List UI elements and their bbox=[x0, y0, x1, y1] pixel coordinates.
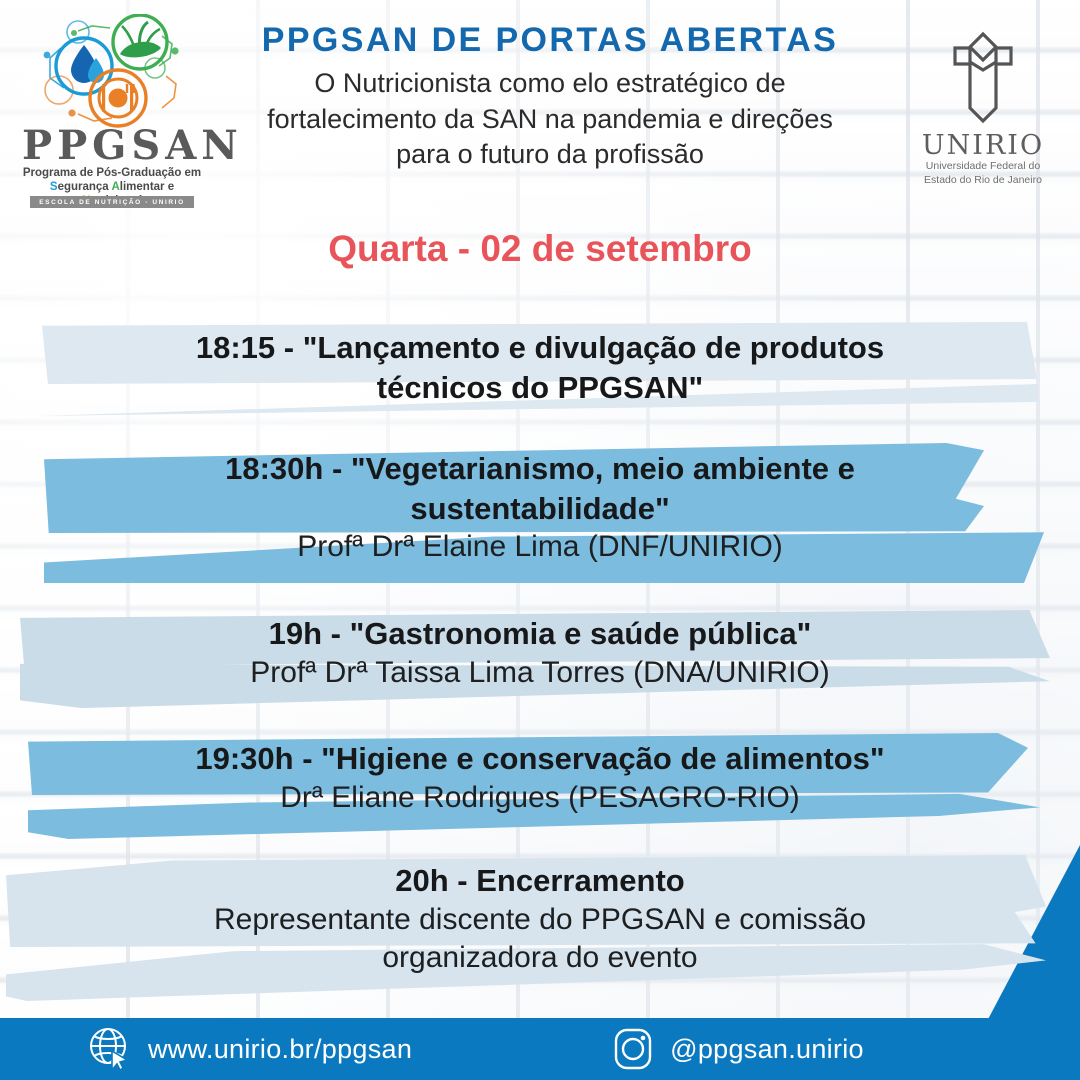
schedule-item-5-speaker-line2: organizadora do evento bbox=[0, 939, 1080, 977]
unirio-logo: UNIRIO Universidade Federal do Estado do… bbox=[908, 22, 1058, 192]
unirio-subtitle-line1: Universidade Federal do bbox=[908, 160, 1058, 174]
schedule-item-5: 20h - Encerramento Representante discent… bbox=[0, 855, 1080, 1005]
schedule-item-3: 19h - "Gastronomia e saúde pública" Prof… bbox=[0, 610, 1080, 718]
footer-website[interactable]: www.unirio.br/ppgsan bbox=[88, 1025, 412, 1073]
schedule-item-2-text: 18:30h - "Vegetarianismo, meio ambiente … bbox=[0, 443, 1080, 567]
schedule-item-1-title-line1: 18:15 - "Lançamento e divulgação de prod… bbox=[0, 328, 1080, 368]
unirio-subtitle-line2: Estado do Rio de Janeiro bbox=[908, 174, 1058, 188]
unirio-shield-icon bbox=[908, 22, 1058, 127]
globe-cursor-icon bbox=[88, 1025, 132, 1073]
schedule-item-5-text: 20h - Encerramento Representante discent… bbox=[0, 855, 1080, 977]
poster-header: PPGSAN Programa de Pós-Graduação em Segu… bbox=[0, 0, 1080, 200]
ppgsan-banner-text: ESCOLA DE NUTRIÇÃO - UNIRIO bbox=[39, 199, 185, 206]
schedule-item-4-title-line1: 19:30h - "Higiene e conservação de alime… bbox=[0, 739, 1080, 779]
plant-leaf-icon bbox=[113, 15, 167, 69]
ppgsan-logo: PPGSAN Programa de Pós-Graduação em Segu… bbox=[14, 14, 209, 194]
date-heading: Quarta - 02 de setembro bbox=[0, 228, 1080, 270]
schedule-item-3-speaker: Profª Drª Taissa Lima Torres (DNA/UNIRIO… bbox=[0, 654, 1080, 692]
poster-footer: www.unirio.br/ppgsan @ppgsan.unirio bbox=[0, 1018, 1080, 1080]
page-subtitle: O Nutricionista como elo estratégico de … bbox=[195, 66, 905, 173]
schedule-item-4: 19:30h - "Higiene e conservação de alime… bbox=[0, 733, 1080, 841]
poster-canvas: PPGSAN Programa de Pós-Graduação em Segu… bbox=[0, 0, 1080, 1080]
page-title: PPGSAN DE PORTAS ABERTAS bbox=[200, 22, 900, 59]
footer-website-label: www.unirio.br/ppgsan bbox=[148, 1034, 412, 1065]
schedule-item-1-text: 18:15 - "Lançamento e divulgação de prod… bbox=[0, 322, 1080, 407]
schedule-item-1: 18:15 - "Lançamento e divulgação de prod… bbox=[0, 322, 1080, 422]
ppgsan-subtitle-line1: Programa de Pós-Graduação em bbox=[19, 166, 205, 180]
schedule-item-2: 18:30h - "Vegetarianismo, meio ambiente … bbox=[0, 443, 1080, 591]
ppgsan-logo-banner: ESCOLA DE NUTRIÇÃO - UNIRIO bbox=[30, 196, 194, 208]
footer-instagram[interactable]: @ppgsan.unirio bbox=[612, 1026, 864, 1072]
schedule-item-5-title-line1: 20h - Encerramento bbox=[0, 861, 1080, 901]
schedule-item-2-title-line2: sustentabilidade" bbox=[0, 489, 1080, 529]
plate-cutlery-icon bbox=[90, 70, 146, 126]
subtitle-line-2: fortalecimento da SAN na pandemia e dire… bbox=[195, 102, 905, 138]
subtitle-line-3: para o futuro da profissão bbox=[195, 137, 905, 173]
subtitle-line-1: O Nutricionista como elo estratégico de bbox=[195, 66, 905, 102]
schedule-item-2-title-line1: 18:30h - "Vegetarianismo, meio ambiente … bbox=[0, 449, 1080, 489]
schedule-item-4-text: 19:30h - "Higiene e conservação de alime… bbox=[0, 733, 1080, 817]
footer-instagram-label: @ppgsan.unirio bbox=[670, 1034, 864, 1065]
unirio-wordmark: UNIRIO bbox=[908, 130, 1058, 161]
schedule-item-1-title-line2: técnicos do PPGSAN" bbox=[0, 368, 1080, 408]
schedule-item-2-speaker: Profª Drª Elaine Lima (DNF/UNIRIO) bbox=[0, 528, 1080, 566]
schedule-item-3-text: 19h - "Gastronomia e saúde pública" Prof… bbox=[0, 610, 1080, 692]
ppgsan-logo-graphic bbox=[14, 14, 209, 129]
instagram-icon bbox=[612, 1026, 654, 1072]
ppgsan-wordmark: PPGSAN bbox=[22, 126, 202, 166]
unirio-subtitle: Universidade Federal do Estado do Rio de… bbox=[908, 160, 1058, 187]
schedule-item-3-title-line1: 19h - "Gastronomia e saúde pública" bbox=[0, 614, 1080, 654]
schedule-item-5-speaker-line1: Representante discente do PPGSAN e comis… bbox=[0, 901, 1080, 939]
schedule-item-4-speaker: Drª Eliane Rodrigues (PESAGRO-RIO) bbox=[0, 779, 1080, 817]
